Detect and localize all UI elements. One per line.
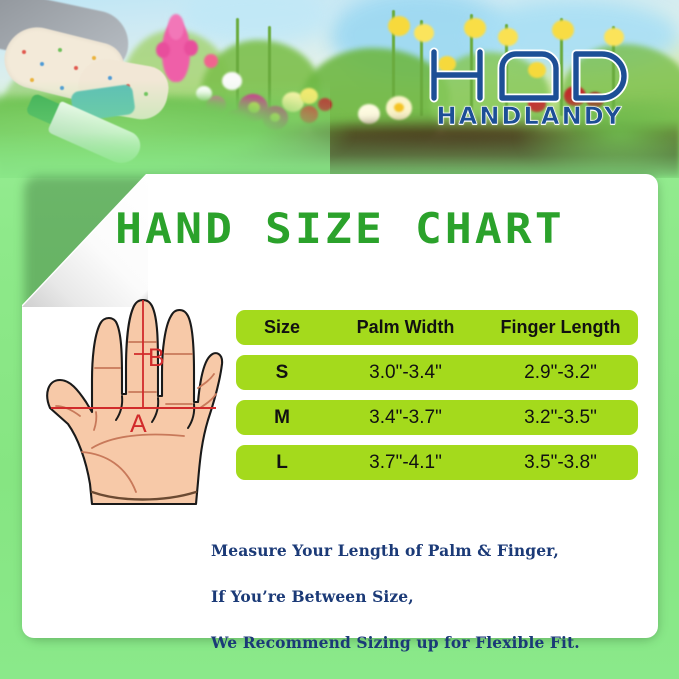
glove-pattern-dot [74,66,78,70]
note-line-2: If You’re Between Size, [211,585,580,608]
page-title: HAND SIZE CHART [3,204,677,253]
yellow-flower [464,18,486,38]
yellow-flower [552,20,574,40]
cell-palm-width: 3.7"-4.1" [328,452,483,474]
cell-size: S [236,362,328,384]
note-line-1: Measure Your Length of Palm & Finger, [211,539,580,562]
sizing-note: Measure Your Length of Palm & Finger, If… [211,516,580,677]
hero-left-fade [0,80,330,178]
yellow-flower [388,16,410,36]
glove-pattern-dot [22,50,26,54]
hand-measurement-diagram: B A [34,296,224,514]
glove-pattern-dot [40,62,44,66]
pink-flower [156,42,170,58]
note-line-3: We Recommend Sizing up for Flexible Fit. [211,631,580,654]
label-b: B [148,344,165,372]
brand-name: HANDLANDY [424,102,636,130]
glove-pattern-dot [58,48,62,52]
flower-center [394,103,404,112]
yellow-flower [414,24,434,42]
size-chart-page: HANDLANDY HAND SIZE CHART [0,0,679,679]
cell-finger-length: 2.9"-3.2" [483,362,638,384]
table-header-row: Size Palm Width Finger Length [236,310,638,345]
column-header-size: Size [236,317,328,338]
cell-palm-width: 3.0"-3.4" [328,362,483,384]
glove-pattern-dot [92,56,96,60]
cell-finger-length: 3.2"-3.5" [483,407,638,429]
pink-flower [168,14,184,40]
table-row: L 3.7"-4.1" 3.5"-3.8" [236,445,638,480]
hd-monogram-icon [424,44,636,106]
size-table: Size Palm Width Finger Length S 3.0"-3.4… [236,310,638,490]
table-row: M 3.4"-3.7" 3.2"-3.5" [236,400,638,435]
pink-flower [184,40,198,56]
cell-size: L [236,452,328,474]
brand-logo: HANDLANDY [424,44,636,136]
column-header-finger-length: Finger Length [483,317,638,338]
cell-palm-width: 3.4"-3.7" [328,407,483,429]
cell-size: M [236,407,328,429]
hand-illustration-icon: B A [34,296,224,514]
column-header-palm-width: Palm Width [328,317,483,338]
table-row: S 3.0"-3.4" 2.9"-3.2" [236,355,638,390]
label-a: A [130,410,147,438]
cell-finger-length: 3.5"-3.8" [483,452,638,474]
pink-flower [204,54,218,68]
